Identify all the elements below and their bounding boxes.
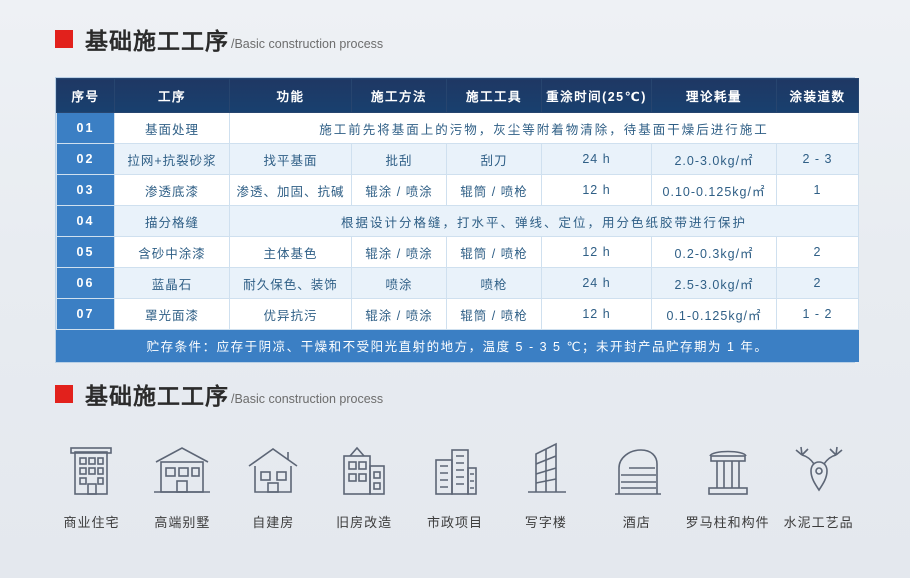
cell-recoat: 24 h bbox=[542, 268, 652, 299]
scenario-item[interactable]: 商业住宅 bbox=[46, 436, 137, 531]
cement-craft-icon bbox=[792, 436, 846, 498]
cell-process: 基面处理 bbox=[115, 113, 230, 144]
th-index: 序号 bbox=[57, 79, 115, 113]
cell-process: 描分格缝 bbox=[115, 206, 230, 237]
cell-consumption: 0.2-0.3kg/㎡ bbox=[652, 237, 777, 268]
scenario-label: 酒店 bbox=[623, 512, 651, 531]
red-square-icon bbox=[55, 385, 73, 403]
cell-method: 批刮 bbox=[352, 144, 447, 175]
cell-method: 辊涂 / 喷涂 bbox=[352, 237, 447, 268]
cell-function: 优异抗污 bbox=[230, 299, 352, 330]
cell-index: 01 bbox=[57, 113, 115, 144]
cell-function: 耐久保色、装饰 bbox=[230, 268, 352, 299]
cell-method: 辊涂 / 喷涂 bbox=[352, 299, 447, 330]
application-scenarios: 商业住宅 高端别墅 自建房 bbox=[46, 436, 864, 531]
municipal-project-icon bbox=[429, 436, 481, 498]
section-title-cn: 基础施工工序 bbox=[85, 385, 229, 408]
cell-method: 喷涂 bbox=[352, 268, 447, 299]
th-function: 功能 bbox=[230, 79, 352, 113]
cell-tool: 辊筒 / 喷枪 bbox=[447, 299, 542, 330]
hotel-icon bbox=[609, 436, 665, 498]
section-title-en: /Basic construction process bbox=[231, 37, 383, 52]
table-row: 03 渗透底漆 渗透、加固、抗碱 辊涂 / 喷涂 辊筒 / 喷枪 12 h 0.… bbox=[57, 175, 859, 206]
cell-recoat: 12 h bbox=[542, 175, 652, 206]
roman-column-icon bbox=[702, 436, 754, 498]
th-method: 施工方法 bbox=[352, 79, 447, 113]
cell-process: 拉网+抗裂砂浆 bbox=[115, 144, 230, 175]
cell-consumption: 0.10-0.125kg/㎡ bbox=[652, 175, 777, 206]
old-house-renovation-icon bbox=[336, 436, 392, 498]
scenario-label: 水泥工艺品 bbox=[784, 512, 854, 531]
table-row: 06 蓝晶石 耐久保色、装饰 喷涂 喷枪 24 h 2.5-3.0kg/㎡ 2 bbox=[57, 268, 859, 299]
table-row: 05 含砂中涂漆 主体基色 辊涂 / 喷涂 辊筒 / 喷枪 12 h 0.2-0… bbox=[57, 237, 859, 268]
section-title-en: /Basic construction process bbox=[231, 392, 383, 407]
scenario-label: 市政项目 bbox=[427, 512, 483, 531]
cell-coats: 1 - 2 bbox=[777, 299, 859, 330]
scenario-label: 旧房改造 bbox=[336, 512, 392, 531]
scenario-item[interactable]: 高端别墅 bbox=[137, 436, 228, 531]
cell-method: 辊涂 / 喷涂 bbox=[352, 175, 447, 206]
cell-coats: 2 - 3 bbox=[777, 144, 859, 175]
cell-tool: 辊筒 / 喷枪 bbox=[447, 237, 542, 268]
cell-consumption: 2.0-3.0kg/㎡ bbox=[652, 144, 777, 175]
section-title-cn: 基础施工工序 bbox=[85, 30, 229, 53]
th-coats: 涂装道数 bbox=[777, 79, 859, 113]
section-heading-1: 基础施工工序 /Basic construction process bbox=[0, 0, 910, 53]
table-row: 02 拉网+抗裂砂浆 找平基面 批刮 刮刀 24 h 2.0-3.0kg/㎡ 2… bbox=[57, 144, 859, 175]
cell-index: 07 bbox=[57, 299, 115, 330]
scenario-item[interactable]: 写字楼 bbox=[500, 436, 591, 531]
scenario-label: 写字楼 bbox=[525, 512, 567, 531]
table-row: 04 描分格缝 根据设计分格缝，打水平、弹线、定位，用分色纸胶带进行保护 bbox=[57, 206, 859, 237]
high-end-villa-icon bbox=[152, 436, 212, 498]
cell-recoat: 12 h bbox=[542, 237, 652, 268]
cell-consumption: 2.5-3.0kg/㎡ bbox=[652, 268, 777, 299]
cell-process: 含砂中涂漆 bbox=[115, 237, 230, 268]
cell-recoat: 12 h bbox=[542, 299, 652, 330]
cell-index: 06 bbox=[57, 268, 115, 299]
cell-function: 渗透、加固、抗碱 bbox=[230, 175, 352, 206]
scenario-label: 高端别墅 bbox=[154, 512, 210, 531]
scenario-item[interactable]: 酒店 bbox=[591, 436, 682, 531]
cell-index: 03 bbox=[57, 175, 115, 206]
cell-tool: 辊筒 / 喷枪 bbox=[447, 175, 542, 206]
cell-merged-note: 施工前先将基面上的污物，灰尘等附着物清除，待基面干燥后进行施工 bbox=[230, 113, 859, 144]
cell-process: 渗透底漆 bbox=[115, 175, 230, 206]
table-row: 07 罩光面漆 优异抗污 辊涂 / 喷涂 辊筒 / 喷枪 12 h 0.1-0.… bbox=[57, 299, 859, 330]
cell-index: 05 bbox=[57, 237, 115, 268]
cell-consumption: 0.1-0.125kg/㎡ bbox=[652, 299, 777, 330]
cell-function: 主体基色 bbox=[230, 237, 352, 268]
scenario-item[interactable]: 市政项目 bbox=[410, 436, 501, 531]
commercial-residence-icon bbox=[65, 436, 117, 498]
th-consumption: 理论耗量 bbox=[652, 79, 777, 113]
self-built-house-icon bbox=[244, 436, 302, 498]
red-square-icon bbox=[55, 30, 73, 48]
cell-index: 04 bbox=[57, 206, 115, 237]
th-tool: 施工工具 bbox=[447, 79, 542, 113]
table-row: 01 基面处理 施工前先将基面上的污物，灰尘等附着物清除，待基面干燥后进行施工 bbox=[57, 113, 859, 144]
cell-merged-note: 根据设计分格缝，打水平、弹线、定位，用分色纸胶带进行保护 bbox=[230, 206, 859, 237]
scenario-label: 商业住宅 bbox=[63, 512, 119, 531]
cell-function: 找平基面 bbox=[230, 144, 352, 175]
scenario-item[interactable]: 水泥工艺品 bbox=[773, 436, 864, 531]
scenario-item[interactable]: 旧房改造 bbox=[319, 436, 410, 531]
construction-process-table: 序号 工序 功能 施工方法 施工工具 重涂时间(25℃) 理论耗量 涂装道数 0… bbox=[55, 77, 855, 363]
th-process: 工序 bbox=[115, 79, 230, 113]
scenario-label: 罗马柱和构件 bbox=[686, 512, 770, 531]
cell-coats: 2 bbox=[777, 268, 859, 299]
cell-tool: 刮刀 bbox=[447, 144, 542, 175]
table-header-row: 序号 工序 功能 施工方法 施工工具 重涂时间(25℃) 理论耗量 涂装道数 bbox=[57, 79, 859, 113]
cell-coats: 2 bbox=[777, 237, 859, 268]
scenario-item[interactable]: 自建房 bbox=[228, 436, 319, 531]
cell-process: 蓝晶石 bbox=[115, 268, 230, 299]
cell-process: 罩光面漆 bbox=[115, 299, 230, 330]
cell-tool: 喷枪 bbox=[447, 268, 542, 299]
storage-note: 贮存条件：应存于阴凉、干燥和不受阳光直射的地方，温度 5 - 3 5 ℃；未开封… bbox=[57, 330, 859, 362]
cell-recoat: 24 h bbox=[542, 144, 652, 175]
office-building-icon bbox=[520, 436, 572, 498]
storage-note-row: 贮存条件：应存于阴凉、干燥和不受阳光直射的地方，温度 5 - 3 5 ℃；未开封… bbox=[57, 330, 859, 362]
scenario-label: 自建房 bbox=[252, 512, 294, 531]
scenario-item[interactable]: 罗马柱和构件 bbox=[682, 436, 773, 531]
cell-coats: 1 bbox=[777, 175, 859, 206]
th-recoat-time: 重涂时间(25℃) bbox=[542, 79, 652, 113]
section-heading-2: 基础施工工序 /Basic construction process bbox=[0, 363, 910, 408]
cell-index: 02 bbox=[57, 144, 115, 175]
